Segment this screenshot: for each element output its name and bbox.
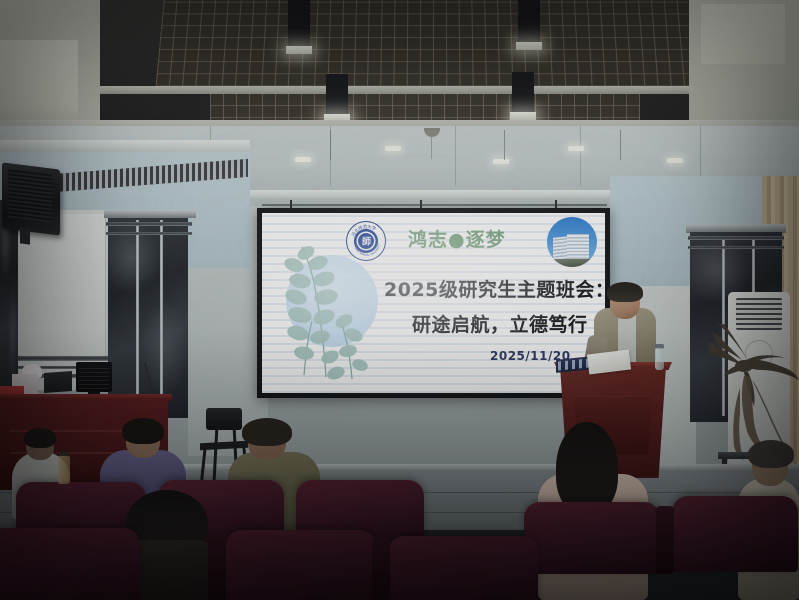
ceiling-trim-band — [100, 86, 700, 94]
speaker-grille — [8, 169, 52, 222]
door-trim-stripe — [688, 246, 784, 249]
photo-ground — [547, 259, 597, 267]
attendee-hair — [24, 428, 56, 448]
chair-leg — [200, 446, 207, 480]
attendee-hair — [748, 440, 794, 468]
recessed-ceiling-light — [493, 159, 509, 164]
bronze-eagle-sculpture — [700, 310, 799, 460]
pendant-spotlight — [518, 0, 540, 44]
speaker-mount-bracket — [20, 227, 30, 244]
seal-center-glyph: 師 — [362, 235, 370, 248]
slide-motto: 鸿志●逐梦 — [408, 225, 506, 252]
auditorium-seat — [672, 496, 798, 572]
monitor-screen — [79, 365, 109, 389]
attendee-hair — [122, 418, 164, 444]
ceiling-cove-light-right — [701, 4, 785, 64]
pendant-spotlight — [326, 74, 348, 116]
water-bottle — [655, 348, 664, 370]
door-mullion — [136, 220, 139, 416]
attendee-long-hair — [556, 422, 618, 514]
seat-armrest — [656, 506, 674, 574]
ceiling-hanger-wire — [330, 130, 331, 160]
campus-building-photo — [547, 217, 597, 267]
presenter-hair — [607, 282, 643, 302]
chair-seat — [200, 441, 248, 451]
door-trim-stripe — [688, 236, 784, 240]
pendant-spotlight — [288, 0, 310, 48]
auditorium-seat — [388, 536, 538, 600]
ceiling-grille-panel — [156, 0, 705, 86]
dark-marble-doorway — [108, 218, 188, 418]
wall-mounted-loudspeaker — [2, 162, 60, 235]
chair-leg — [213, 428, 219, 480]
chair-backrest — [206, 408, 242, 430]
pendant-spotlight — [512, 72, 534, 114]
ceiling-cove-light-left — [0, 40, 78, 130]
seat-armrest — [208, 534, 226, 600]
recessed-ceiling-light — [667, 158, 683, 163]
plaque-text-marks — [558, 358, 590, 370]
slide-title-line1: 2025级研究生主题班会： — [384, 275, 605, 302]
recessed-ceiling-light — [295, 157, 311, 162]
ceiling-hanger-wire — [431, 137, 432, 159]
drink-bottle — [58, 456, 70, 484]
recessed-ceiling-light — [385, 146, 401, 151]
auditorium-seat — [226, 530, 376, 600]
door-trim-stripe — [106, 232, 192, 235]
ceiling-tile-seam — [580, 126, 581, 186]
recessed-ceiling-light — [568, 146, 584, 151]
left-soffit-edge — [0, 140, 250, 152]
university-seal-icon: 河北师范大学 HEBEI NORMAL UNIVERSITY 師 — [346, 221, 386, 261]
desk-monitor — [76, 362, 112, 392]
doorway-header-trim — [104, 210, 196, 218]
ceiling-hanger-wire — [620, 130, 621, 160]
ceiling-hanger-wire — [504, 130, 505, 160]
auditorium-seat — [524, 502, 660, 574]
auditorium-photo: 河北师范大学 HEBEI NORMAL UNIVERSITY 師 鸿志●逐梦 2… — [0, 0, 799, 600]
building-right — [567, 234, 589, 261]
ceiling-tile-seam — [455, 126, 456, 186]
auditorium-seat — [0, 528, 140, 600]
projection-screen[interactable]: 河北师范大学 HEBEI NORMAL UNIVERSITY 師 鸿志●逐梦 2… — [262, 213, 605, 393]
door-trim-stripe — [106, 222, 192, 226]
attendee-hair — [242, 418, 292, 446]
door-mullion — [160, 220, 163, 416]
laptop — [44, 371, 72, 393]
seat-armrest — [372, 538, 390, 600]
slide-title-line2: 研途启航，立德笃行 — [412, 310, 588, 337]
